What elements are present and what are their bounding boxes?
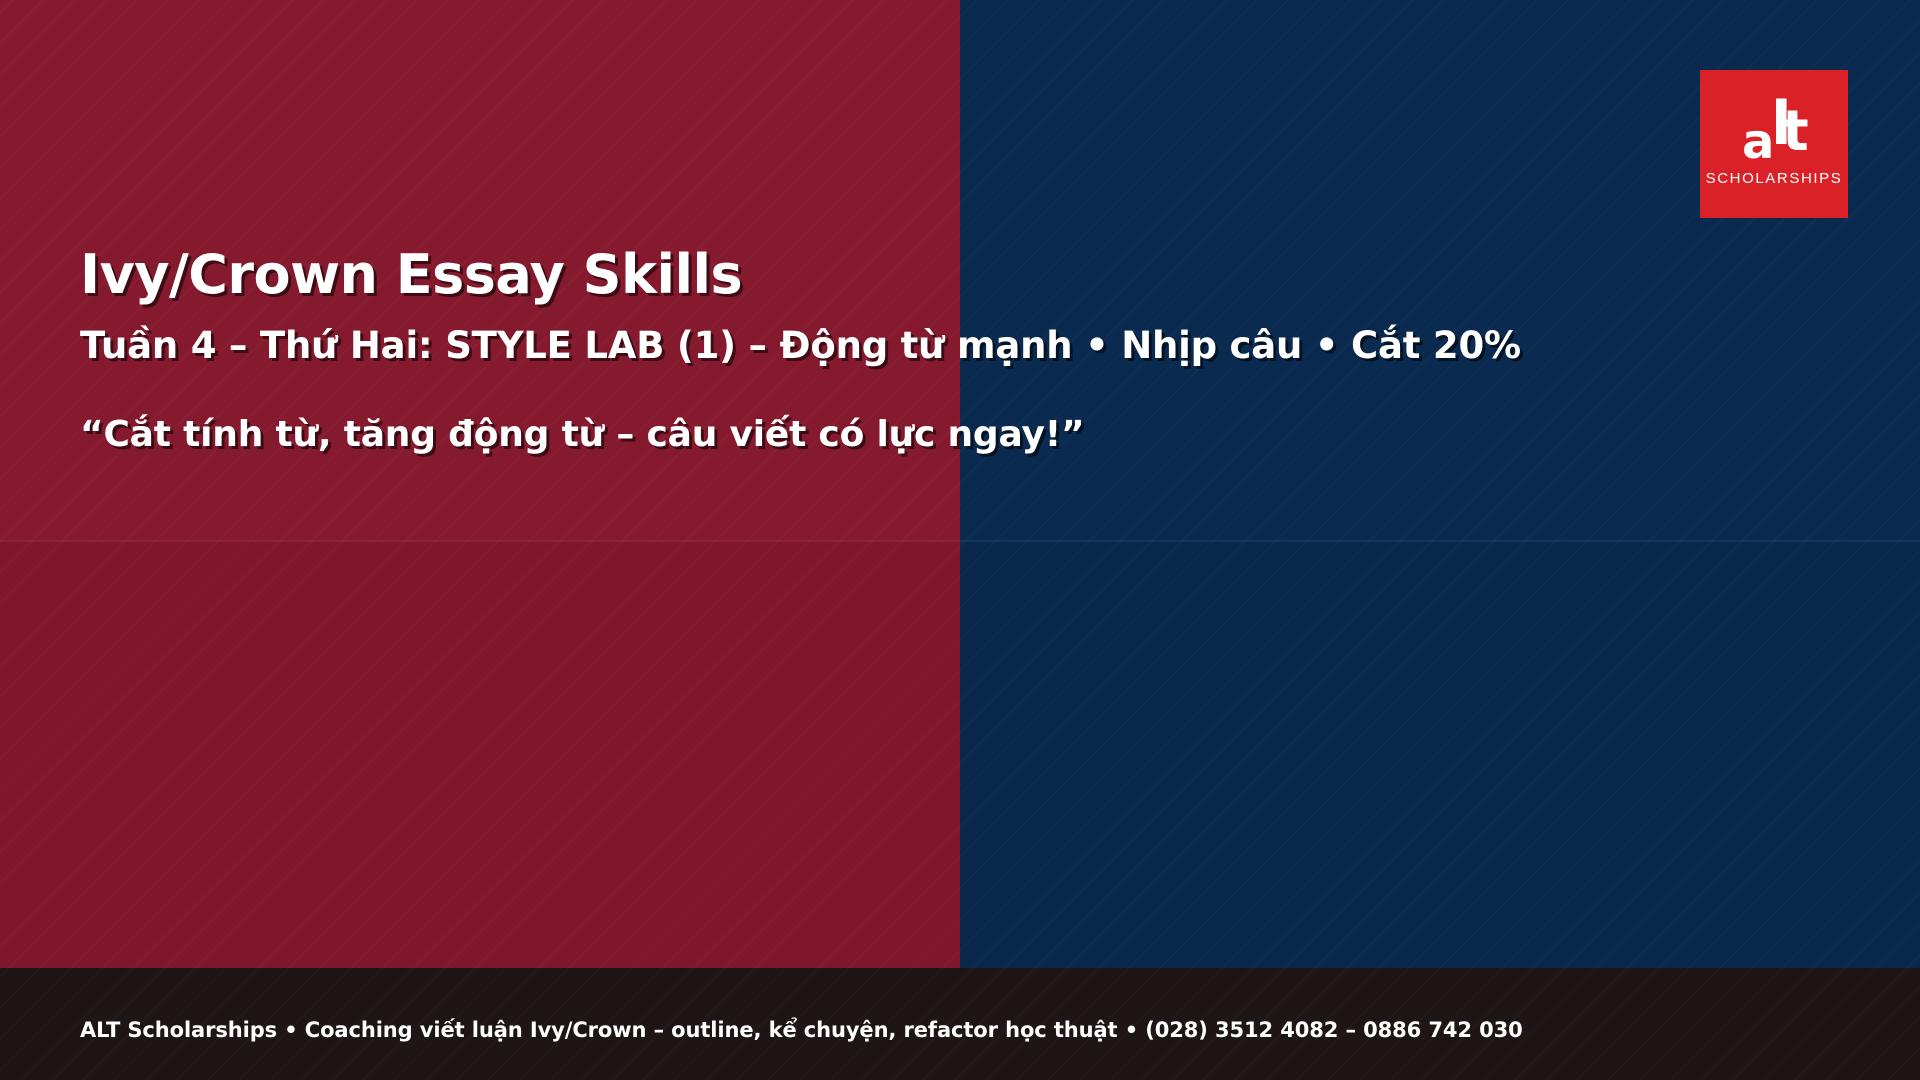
footer-contact-text: ALT Scholarships • Coaching viết luận Iv… <box>80 1018 1523 1042</box>
slide-quote: “Cắt tính từ, tăng động từ – câu viết có… <box>80 415 1840 455</box>
logo-wordmark: SCHOLARSHIPS <box>1706 170 1843 187</box>
logo-letter-a-icon: a <box>1742 118 1774 166</box>
slide-title: Ivy/Crown Essay Skills <box>80 246 1840 303</box>
alt-logotype-mark: a l t <box>1726 92 1822 164</box>
alt-scholarships-logo: a l t SCHOLARSHIPS <box>1700 70 1848 218</box>
slide-subtitle: Tuần 4 – Thứ Hai: STYLE LAB (1) – Động t… <box>80 325 1840 366</box>
slide-content: Ivy/Crown Essay Skills Tuần 4 – Thứ Hai:… <box>80 246 1840 455</box>
logo-letter-t-icon: t <box>1782 104 1809 160</box>
footer-bar: ALT Scholarships • Coaching viết luận Iv… <box>0 968 1920 1080</box>
presentation-slide: a l t SCHOLARSHIPS Ivy/Crown Essay Skill… <box>0 0 1920 1080</box>
